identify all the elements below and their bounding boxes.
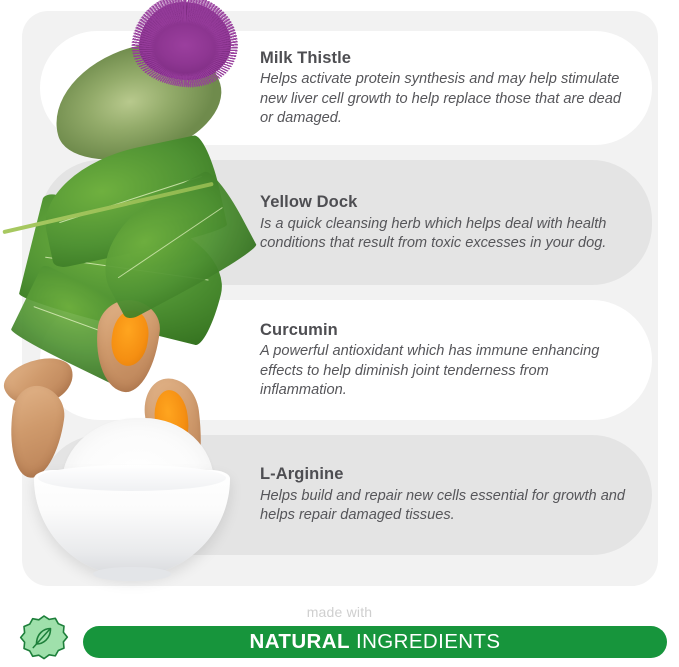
ingredient-card-l-arginine: L-Arginine Helps build and repair new ce…	[40, 435, 652, 555]
ingredient-card-curcumin: Curcumin A powerful antioxidant which ha…	[40, 300, 652, 420]
ingredient-description: Helps build and repair new cells essenti…	[260, 487, 630, 526]
natural-ingredients-banner: NATURAL INGREDIENTS	[83, 626, 667, 658]
ingredient-title: Milk Thistle	[260, 48, 630, 69]
made-with-label: made with	[0, 604, 679, 620]
ingredient-description: Is a quick cleansing herb which helps de…	[260, 215, 630, 254]
card-text-block: Milk Thistle Helps activate protein synt…	[260, 48, 630, 128]
ingredient-title: L-Arginine	[260, 464, 630, 485]
banner-regular-word: INGREDIENTS	[350, 630, 501, 653]
ingredient-card-yellow-dock: Yellow Dock Is a quick cleansing herb wh…	[40, 160, 652, 285]
ingredient-description: A powerful antioxidant which has immune …	[260, 342, 630, 400]
ingredient-title: Curcumin	[260, 320, 630, 341]
card-text-block: Curcumin A powerful antioxidant which ha…	[260, 320, 630, 400]
banner-bold-word: NATURAL	[250, 630, 350, 653]
ingredient-description: Helps activate protein synthesis and may…	[260, 70, 630, 128]
card-text-block: L-Arginine Helps build and repair new ce…	[260, 464, 630, 525]
ingredient-title: Yellow Dock	[260, 192, 630, 213]
banner-text: NATURAL INGREDIENTS	[250, 630, 501, 654]
leaf-badge-icon	[16, 613, 72, 667]
infographic-canvas: Milk Thistle Helps activate protein synt…	[0, 0, 679, 667]
card-text-block: Yellow Dock Is a quick cleansing herb wh…	[260, 192, 630, 253]
ingredient-card-milk-thistle: Milk Thistle Helps activate protein synt…	[40, 31, 652, 145]
